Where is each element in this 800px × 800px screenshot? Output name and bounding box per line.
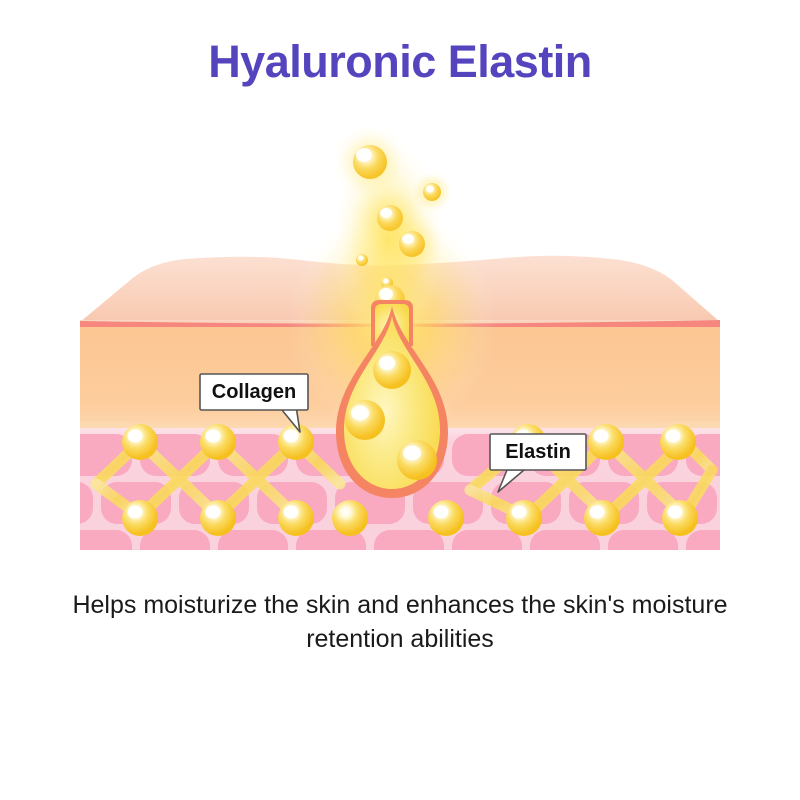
infographic-page: Hyaluronic Elastin xyxy=(0,0,800,800)
elastin-callout-label: Elastin xyxy=(505,441,571,463)
page-caption: Helps moisturize the skin and enhances t… xyxy=(40,588,760,656)
bubble xyxy=(353,145,387,179)
page-title: Hyaluronic Elastin xyxy=(0,36,800,88)
collagen-callout-label: Collagen xyxy=(212,381,296,403)
skin-cross-section-illustration: Collagen Elastin xyxy=(0,110,800,570)
bubble xyxy=(399,231,425,257)
bubble xyxy=(377,205,403,231)
